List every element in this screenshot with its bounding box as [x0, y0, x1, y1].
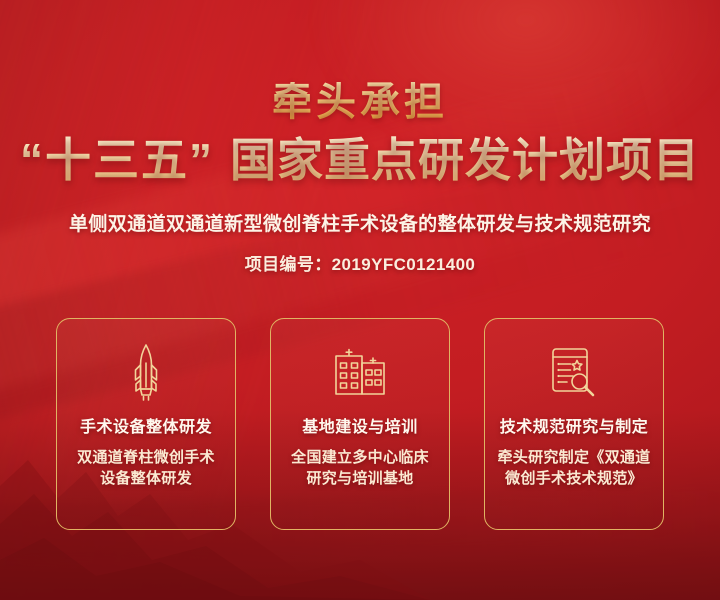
card-title: 基地建设与培训 — [302, 413, 418, 437]
card-description: 双通道脊柱微创手术 设备整体研发 — [71, 447, 221, 490]
card-icon-slot — [549, 343, 599, 401]
card-icon-slot — [129, 343, 163, 401]
hospital-building-icon — [334, 348, 386, 396]
feature-card[interactable]: 手术设备整体研发 双通道脊柱微创手术 设备整体研发 — [56, 318, 236, 530]
document-search-icon — [549, 346, 599, 398]
poster-header: 牵头承担 “十三五”国家重点研发计划项目 单侧双通道双通道新型微创脊柱手术设备的… — [0, 0, 720, 275]
project-number: 项目编号：2019YFC0121400 — [0, 250, 720, 275]
card-icon-slot — [334, 343, 386, 401]
card-description-line: 全国建立多中心临床 — [291, 447, 429, 468]
headline-quoted-part: “十三五” — [20, 134, 214, 186]
feature-card[interactable]: 技术规范研究与制定 牵头研究制定《双通道 微创手术技术规范》 — [484, 318, 664, 530]
project-subtitle: 单侧双通道双通道新型微创脊柱手术设备的整体研发与技术规范研究 — [0, 209, 720, 236]
card-description-line: 研究与培训基地 — [291, 468, 429, 489]
card-title: 手术设备整体研发 — [80, 413, 212, 437]
headline-main-part: 国家重点研发计划项目 — [230, 134, 700, 186]
card-description-line: 牵头研究制定《双通道 — [497, 447, 650, 468]
card-description: 全国建立多中心临床 研究与培训基地 — [285, 447, 435, 490]
feature-card[interactable]: 基地建设与培训 全国建立多中心临床 研究与培训基地 — [270, 318, 450, 530]
page-title: “十三五”国家重点研发计划项目 — [0, 136, 720, 185]
card-description: 牵头研究制定《双通道 微创手术技术规范》 — [491, 447, 656, 490]
promotional-poster: 牵头承担 “十三五”国家重点研发计划项目 单侧双通道双通道新型微创脊柱手术设备的… — [0, 0, 720, 600]
feature-card-list: 手术设备整体研发 双通道脊柱微创手术 设备整体研发 — [56, 318, 664, 530]
card-description-line: 设备整体研发 — [77, 468, 215, 489]
rocket-icon — [129, 343, 163, 401]
card-title: 技术规范研究与制定 — [500, 413, 649, 437]
card-description-line: 微创手术技术规范》 — [497, 468, 650, 489]
card-description-line: 双通道脊柱微创手术 — [77, 447, 215, 468]
kicker-title: 牵头承担 — [0, 82, 720, 122]
